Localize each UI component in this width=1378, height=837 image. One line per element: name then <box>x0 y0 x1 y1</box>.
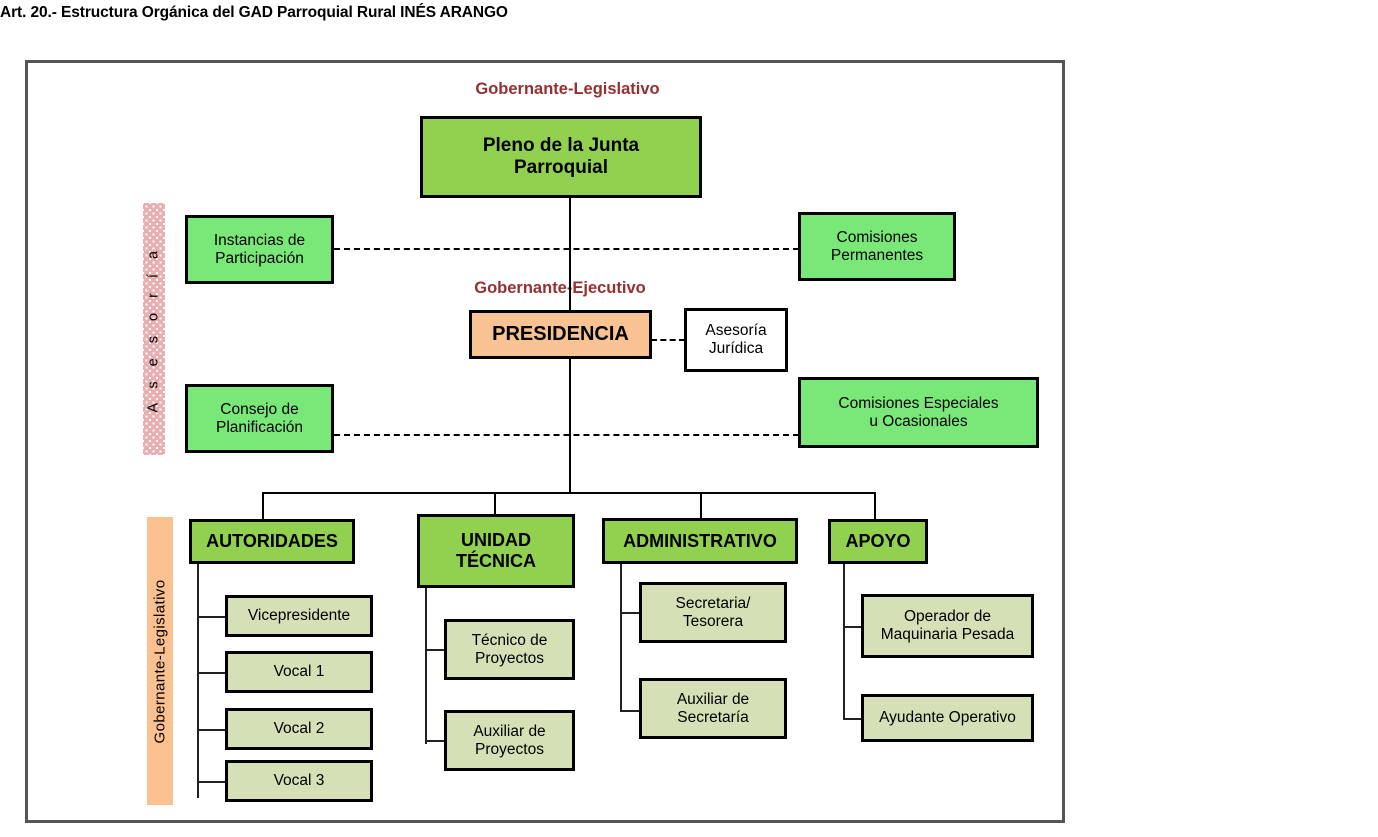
node-presidencia[interactable]: PRESIDENCIA <box>469 310 652 359</box>
node-autoridades-text: AUTORIDADES <box>202 531 342 552</box>
node-operador-maquinaria-pesada[interactable]: Operador de Maquinaria Pesada <box>861 594 1034 658</box>
node-pleno-line2: Parroquial <box>479 157 643 179</box>
node-secretaria-tesorera-line2: Tesorera <box>672 613 755 631</box>
sidebar-gobernante-legislativo-label: Gobernante-Legislativo <box>152 579 169 743</box>
org-chart-page: Art. 20.- Estructura Orgánica del GAD Pa… <box>0 0 1378 837</box>
node-unidad-tecnica-line2: TÉCNICA <box>452 551 540 572</box>
node-instancias-participacion[interactable]: Instancias de Participación <box>185 215 334 284</box>
connector-stub-ayudante-operativo <box>843 718 862 720</box>
page-title: Art. 20.- Estructura Orgánica del GAD Pa… <box>0 4 508 22</box>
sidebar-asesoria: A s e s o r í a <box>143 203 165 455</box>
node-auxiliar-proyectos[interactable]: Auxiliar de Proyectos <box>444 710 575 771</box>
node-comisiones-permanentes-text: Comisiones Permanentes <box>823 229 931 265</box>
connector-bus-drop-autoridades <box>262 492 264 519</box>
node-vocal-3[interactable]: Vocal 3 <box>225 760 373 802</box>
node-administrativo-text: ADMINISTRATIVO <box>619 531 781 552</box>
connector-stub-vicepresidente <box>197 616 225 618</box>
connector-stub-vocal-1 <box>197 672 225 674</box>
node-presidencia-text: PRESIDENCIA <box>488 323 633 346</box>
node-secretaria-tesorera[interactable]: Secretaria/ Tesorera <box>639 582 787 643</box>
node-asesoria-juridica-line1: Asesoría <box>701 322 770 340</box>
node-ayudante-operativo-text: Ayudante Operativo <box>875 709 1020 727</box>
connector-pleno-to-presidencia <box>569 198 571 310</box>
node-unidad-tecnica-text: UNIDAD TÉCNICA <box>448 530 544 572</box>
node-operador-maquinaria-text: Operador de Maquinaria Pesada <box>873 608 1023 644</box>
node-comisiones-permanentes-line2: Permanentes <box>827 247 927 265</box>
node-consejo-planificacion[interactable]: Consejo de Planificación <box>185 384 334 453</box>
node-instancias-text: Instancias de Participación <box>206 232 313 268</box>
sidebar-gobernante-legislativo: Gobernante-Legislativo <box>147 517 173 805</box>
node-auxiliar-proyectos-line2: Proyectos <box>469 741 549 759</box>
node-autoridades[interactable]: AUTORIDADES <box>189 519 355 564</box>
node-tecnico-proyectos-text: Técnico de Proyectos <box>464 632 556 668</box>
connector-stub-tecnico-proyectos <box>425 649 444 651</box>
connector-dashed-presidencia-asesoria-juridica <box>651 339 685 341</box>
node-asesoria-juridica[interactable]: Asesoría Jurídica <box>684 308 788 372</box>
node-vocal-3-text: Vocal 3 <box>270 772 329 790</box>
section-label-gobernante-legislativo: Gobernante-Legislativo <box>455 80 680 99</box>
node-vicepresidente[interactable]: Vicepresidente <box>225 595 373 637</box>
node-pleno-junta-parroquial[interactable]: Pleno de la Junta Parroquial <box>420 116 702 198</box>
node-vicepresidente-text: Vicepresidente <box>244 607 354 625</box>
node-auxiliar-proyectos-text: Auxiliar de Proyectos <box>465 723 553 759</box>
node-comisiones-permanentes[interactable]: Comisiones Permanentes <box>798 212 956 281</box>
sidebar-asesoria-label: A s e s o r í a <box>146 245 162 412</box>
connector-department-bus <box>262 492 874 494</box>
connector-stub-auxiliar-proyectos <box>425 740 444 742</box>
node-auxiliar-secretaria-line1: Auxiliar de <box>673 691 753 709</box>
node-comisiones-especiales-line2: u Ocasionales <box>834 413 1002 431</box>
node-secretaria-tesorera-text: Secretaria/ Tesorera <box>668 595 759 631</box>
connector-spine-autoridades <box>197 564 199 798</box>
node-auxiliar-secretaria-line2: Secretaría <box>673 709 753 727</box>
node-unidad-tecnica-line1: UNIDAD <box>452 530 540 551</box>
node-instancias-line2: Participación <box>210 250 309 268</box>
node-apoyo[interactable]: APOYO <box>828 519 928 564</box>
node-auxiliar-secretaria-text: Auxiliar de Secretaría <box>669 691 757 727</box>
node-comisiones-especiales-line1: Comisiones Especiales <box>834 395 1002 413</box>
node-pleno-text: Pleno de la Junta Parroquial <box>475 135 647 179</box>
node-comisiones-especiales[interactable]: Comisiones Especiales u Ocasionales <box>798 377 1039 448</box>
node-consejo-text: Consejo de Planificación <box>208 401 311 437</box>
node-operador-maquinaria-line1: Operador de <box>877 608 1019 626</box>
node-unidad-tecnica[interactable]: UNIDAD TÉCNICA <box>417 514 575 588</box>
node-vocal-2-text: Vocal 2 <box>270 720 329 738</box>
node-tecnico-proyectos-line2: Proyectos <box>468 650 552 668</box>
connector-bus-drop-unidad-tecnica <box>494 492 496 514</box>
connector-stub-secretaria-tesorera <box>620 612 639 614</box>
connector-spine-apoyo <box>843 564 845 720</box>
connector-spine-unidad-tecnica <box>425 588 427 744</box>
connector-dashed-instancias-comisiones <box>334 248 799 250</box>
node-tecnico-proyectos[interactable]: Técnico de Proyectos <box>444 619 575 680</box>
node-consejo-line1: Consejo de <box>212 401 307 419</box>
connector-dashed-consejo-comisiones-especiales <box>334 434 799 436</box>
node-comisiones-permanentes-line1: Comisiones <box>827 229 927 247</box>
node-pleno-line1: Pleno de la Junta <box>479 135 643 157</box>
node-auxiliar-secretaria[interactable]: Auxiliar de Secretaría <box>639 678 787 739</box>
node-administrativo[interactable]: ADMINISTRATIVO <box>602 518 798 564</box>
node-asesoria-juridica-line2: Jurídica <box>701 340 770 358</box>
connector-presidencia-to-bus <box>569 358 571 494</box>
connector-stub-vocal-3 <box>197 781 225 783</box>
node-secretaria-tesorera-line1: Secretaria/ <box>672 595 755 613</box>
node-ayudante-operativo[interactable]: Ayudante Operativo <box>861 694 1034 742</box>
node-asesoria-juridica-text: Asesoría Jurídica <box>697 322 774 358</box>
node-tecnico-proyectos-line1: Técnico de <box>468 632 552 650</box>
connector-stub-vocal-2 <box>197 729 225 731</box>
connector-stub-operador-maquinaria <box>843 626 862 628</box>
node-vocal-1-text: Vocal 1 <box>270 663 329 681</box>
node-vocal-2[interactable]: Vocal 2 <box>225 708 373 750</box>
node-consejo-line2: Planificación <box>212 419 307 437</box>
connector-bus-drop-apoyo <box>874 492 876 519</box>
node-instancias-line1: Instancias de <box>210 232 309 250</box>
node-operador-maquinaria-line2: Maquinaria Pesada <box>877 626 1019 644</box>
connector-bus-drop-administrativo <box>700 492 702 518</box>
node-apoyo-text: APOYO <box>841 531 914 552</box>
connector-spine-administrativo <box>620 564 622 712</box>
node-vocal-1[interactable]: Vocal 1 <box>225 651 373 693</box>
node-comisiones-especiales-text: Comisiones Especiales u Ocasionales <box>830 395 1006 431</box>
section-label-gobernante-ejecutivo: Gobernante-Ejecutivo <box>455 279 665 298</box>
node-auxiliar-proyectos-line1: Auxiliar de <box>469 723 549 741</box>
connector-stub-auxiliar-secretaria <box>620 710 639 712</box>
